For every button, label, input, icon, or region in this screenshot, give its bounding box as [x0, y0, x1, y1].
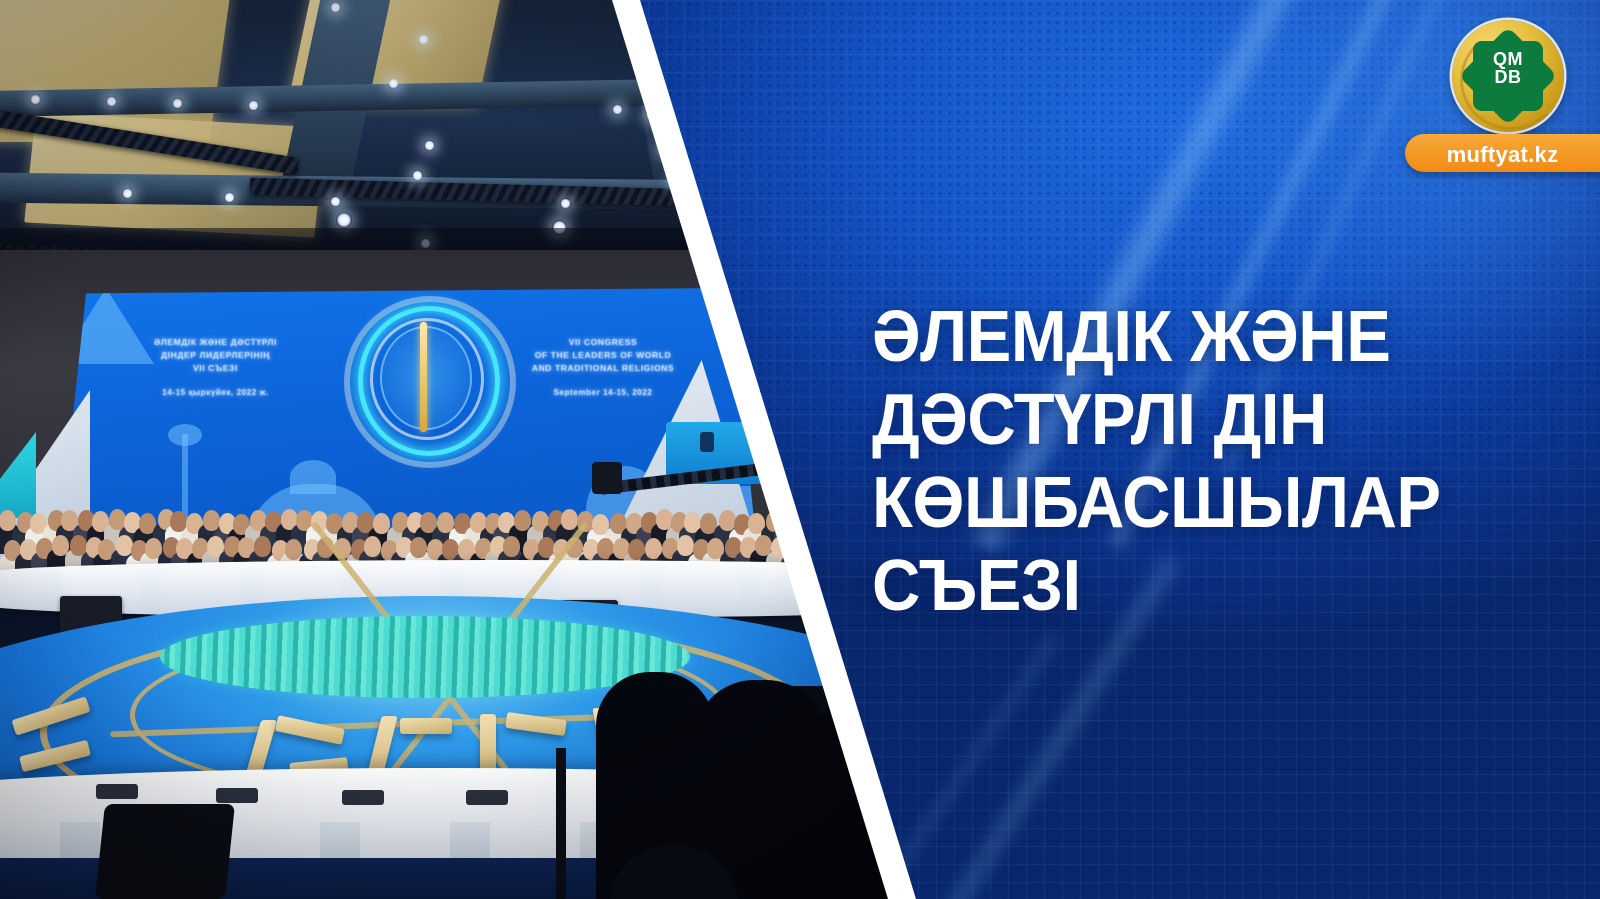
headline-line-1: ӘЛЕМДІК ЖӘНЕ — [872, 296, 1504, 379]
headline-line-4: СЪЕЗІ — [872, 545, 1504, 628]
camera-tripod — [95, 804, 235, 899]
banner-canvas: ӘЛЕМДІК ЖӘНЕ ДӘСТҮРЛІ ДІНДЕР ЛИДЕРЛЕРІНІ… — [0, 0, 1600, 899]
skyline-palace-dome — [290, 460, 336, 494]
congress-headline: ӘЛЕМДІК ЖӘНЕ ДӘСТҮРЛІ ДІН КӨШБАСШЫЛАР СЪ… — [872, 296, 1504, 628]
headline-line-3: КӨШБАСШЫЛАР — [872, 462, 1504, 545]
site-badge[interactable]: muftyat.kz — [1405, 134, 1600, 172]
camera-tripod — [556, 748, 566, 899]
screen-kazakh-title: ӘЛЕМДІК ЖӘНЕ ДӘСТҮРЛІ ДІНДЕР ЛИДЕРЛЕРІНІ… — [108, 336, 323, 399]
desk-microphone — [466, 790, 508, 805]
skyline-tower-silhouette — [168, 424, 202, 446]
desk-microphone — [96, 784, 138, 799]
desk-microphone — [342, 790, 384, 805]
gold-3d-lettering — [400, 718, 452, 734]
desk-microphone — [216, 788, 258, 803]
qmdb-logo[interactable]: QMDB — [1452, 20, 1570, 132]
headline-line-2: ДӘСТҮРЛІ ДІН — [872, 379, 1504, 462]
congress-emblem-icon — [344, 296, 504, 456]
site-badge-label: muftyat.kz — [1405, 142, 1600, 168]
camera-crane-head — [592, 462, 622, 494]
floral-arrangement — [160, 616, 690, 698]
logo-initials: QMDB — [1473, 50, 1543, 86]
